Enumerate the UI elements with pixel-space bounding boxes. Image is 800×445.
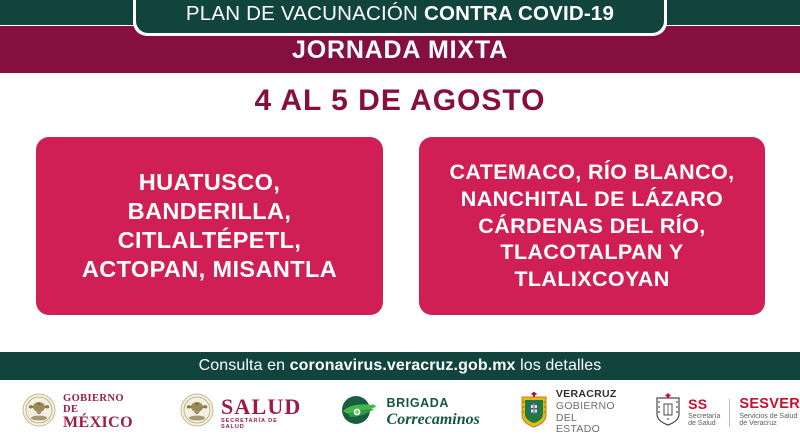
municipality-box-left: HUATUSCO, BANDERILLA, CITLALTÉPETL, ACTO…: [36, 137, 383, 315]
page-title: PLAN DE VACUNACIÓN CONTRA COVID-19: [186, 4, 614, 25]
logo-line: Servicios de Salud: [739, 413, 800, 421]
logo-line: BRIGADA: [387, 397, 480, 411]
logo-salud-text: SALUD SECRETARÍA DE SALUD: [221, 395, 302, 431]
logo-line: Secretaría: [688, 413, 720, 421]
header-subtitle: JORNADA MIXTA: [0, 38, 800, 63]
logo-line: DEL ESTADO: [556, 413, 622, 437]
logo-brigada-text: BRIGADA Correcaminos: [387, 397, 480, 428]
logo-line: SALUD: [221, 395, 302, 418]
municipality-line: TLACOTALPAN Y: [449, 239, 734, 266]
header-title-tab: PLAN DE VACUNACIÓN CONTRA COVID-19: [136, 0, 664, 33]
footer-text: Consulta en coronavirus.veracruz.gob.mx …: [199, 357, 602, 375]
logo-line: MÉXICO: [63, 415, 140, 432]
municipality-list-left: HUATUSCO, BANDERILLA, CITLALTÉPETL, ACTO…: [74, 168, 345, 285]
logo-ss-text: SS Secretaría de Salud: [688, 397, 720, 428]
logo-line: SESVER: [739, 397, 800, 413]
municipality-line: TLALIXCOYAN: [449, 266, 734, 293]
footer-url-link[interactable]: coronavirus.veracruz.gob.mx: [290, 357, 516, 374]
footer-info-bar: Consulta en coronavirus.veracruz.gob.mx …: [0, 352, 800, 380]
logo-salud: SALUD SECRETARÍA DE SALUD: [180, 390, 302, 436]
logo-veracruz-text: VERACRUZ GOBIERNO DEL ESTADO: [556, 389, 622, 436]
mexico-eagle-seal-icon: [180, 393, 214, 432]
veracruz-health-shield-icon: [654, 393, 682, 432]
roadrunner-icon: [340, 393, 380, 432]
logo-line: GOBIERNO: [556, 401, 622, 413]
logo-line: de Veracruz: [739, 420, 800, 428]
vaccination-plan-poster: PLAN DE VACUNACIÓN CONTRA COVID-19 JORNA…: [0, 0, 800, 445]
municipality-box-right: CATEMACO, RÍO BLANCO, NANCHITAL DE LÁZAR…: [419, 137, 765, 315]
municipality-list-right: CATEMACO, RÍO BLANCO, NANCHITAL DE LÁZAR…: [441, 159, 742, 292]
logo-divider: [729, 399, 730, 427]
logo-line: VERACRUZ: [556, 389, 622, 401]
municipality-line: CITLALTÉPETL,: [82, 226, 337, 255]
municipality-line: CATEMACO, RÍO BLANCO,: [449, 159, 734, 186]
municipality-line: HUATUSCO,: [82, 168, 337, 197]
logo-line: SECRETARÍA DE SALUD: [221, 419, 302, 431]
municipality-line: CÁRDENAS DEL RÍO,: [449, 213, 734, 240]
footer-prefix: Consulta en: [199, 357, 290, 374]
logo-line: de Salud: [688, 420, 720, 428]
page-title-light: PLAN DE VACUNACIÓN: [186, 2, 424, 25]
date-range: 4 AL 5 DE AGOSTO: [0, 86, 800, 116]
logo-veracruz-gobierno: VERACRUZ GOBIERNO DEL ESTADO: [518, 390, 622, 436]
logo-sesver-group: SS Secretaría de Salud SESVER Servicios …: [654, 390, 800, 436]
logo-sesver-text: SESVER Servicios de Salud de Veracruz: [739, 397, 800, 428]
logo-gobierno-mexico: GOBIERNO DE MÉXICO: [22, 390, 140, 436]
municipality-line: NANCHITAL DE LÁZARO: [449, 186, 734, 213]
mexico-eagle-seal-icon: [22, 393, 56, 432]
logo-line: SS: [688, 397, 720, 412]
footer-suffix: los detalles: [516, 357, 602, 374]
page-title-bold: CONTRA COVID-19: [424, 2, 614, 25]
veracruz-coat-of-arms-icon: [518, 391, 550, 434]
logo-line: GOBIERNO DE: [63, 393, 140, 415]
logo-line: Correcaminos: [387, 411, 480, 428]
municipality-line: ACTOPAN, MISANTLA: [82, 255, 337, 284]
logo-gobierno-mexico-text: GOBIERNO DE MÉXICO: [63, 393, 140, 432]
logo-strip: GOBIERNO DE MÉXICO SALUD S: [0, 380, 800, 445]
municipality-line: BANDERILLA,: [82, 197, 337, 226]
logo-brigada-correcaminos: BRIGADA Correcaminos: [340, 390, 480, 436]
